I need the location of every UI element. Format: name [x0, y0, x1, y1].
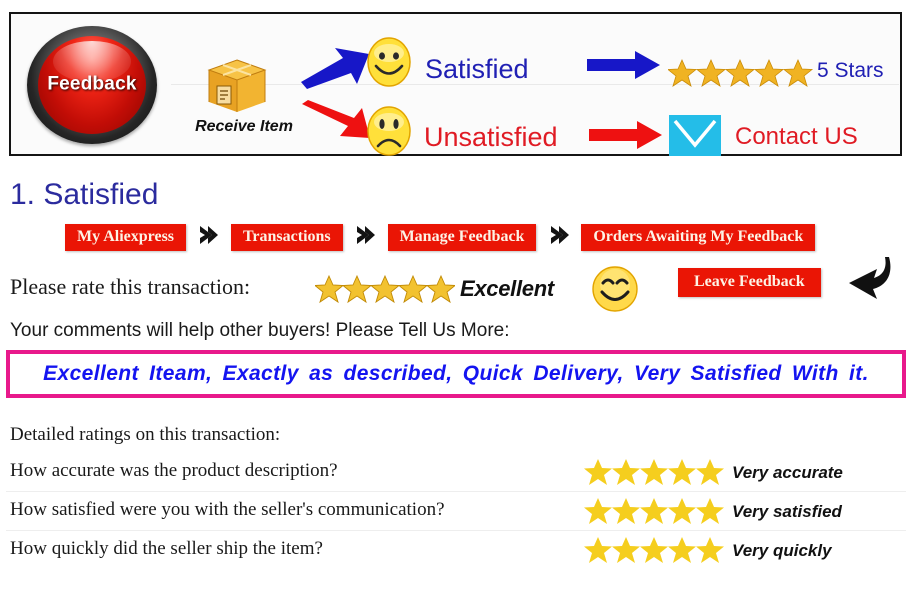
table-row: How accurate was the product description…: [6, 452, 906, 491]
blue-arrow-icon: [299, 44, 371, 95]
chevron-right-icon: [197, 224, 219, 251]
red-arrow-right-icon: [589, 120, 663, 155]
breadcrumb-item-orders-awaiting-my-feedback[interactable]: Orders Awaiting My Feedback: [581, 224, 815, 251]
leave-feedback-button[interactable]: Leave Feedback: [678, 268, 821, 297]
comments-prompt: Your comments will help other buyers! Pl…: [10, 320, 510, 342]
row-divider: [6, 491, 906, 492]
rating-question: How accurate was the product description…: [10, 460, 338, 482]
blue-arrow-right-icon: [587, 50, 661, 85]
feedback-banner: Feedback Receive Item: [9, 12, 902, 156]
rating-value-label: Excellent: [460, 276, 554, 302]
happy-face-icon: [366, 37, 412, 92]
rating-stars-shipping[interactable]: [584, 536, 724, 569]
section-title: 1. Satisfied: [10, 178, 158, 212]
satisfied-label: Satisfied: [425, 54, 529, 85]
feedback-button-label: Feedback: [27, 74, 157, 96]
chevron-right-icon-2: [354, 224, 376, 251]
big-smiley-icon: [592, 266, 638, 317]
red-arrow-icon: [300, 100, 372, 151]
unsatisfied-label: Unsatisfied: [424, 122, 558, 153]
comment-input[interactable]: Excellent Iteam, Exactly as described, Q…: [6, 350, 906, 398]
feedback-button[interactable]: Feedback: [27, 26, 157, 144]
rating-answer: Very satisfied: [732, 502, 842, 522]
breadcrumb-item-transactions[interactable]: Transactions: [231, 224, 343, 251]
contact-us-label[interactable]: Contact US: [735, 123, 858, 151]
rating-answer: Very accurate: [732, 463, 843, 483]
table-row: How quickly did the seller ship the item…: [6, 530, 906, 569]
table-row: How satisfied were you with the seller's…: [6, 491, 906, 530]
package-icon: [207, 58, 267, 116]
detailed-ratings-heading: Detailed ratings on this transaction:: [10, 424, 280, 446]
transaction-star-rating[interactable]: [315, 274, 455, 309]
package-label: Receive Item: [179, 118, 309, 136]
sad-face-icon: [366, 106, 412, 161]
comment-text: Excellent Iteam, Exactly as described, Q…: [10, 362, 902, 386]
banner-star-rating: [668, 58, 814, 93]
breadcrumb-item-manage-feedback[interactable]: Manage Feedback: [388, 224, 537, 251]
rating-stars-accuracy[interactable]: [584, 458, 724, 491]
breadcrumb: My Aliexpress Transactions Manage Feedba…: [65, 224, 815, 252]
rating-question: How satisfied were you with the seller's…: [10, 499, 445, 521]
rating-answer: Very quickly: [732, 541, 832, 561]
envelope-icon[interactable]: [669, 115, 721, 156]
chevron-right-icon-3: [548, 224, 570, 251]
row-divider: [6, 530, 906, 531]
rating-stars-communication[interactable]: [584, 497, 724, 530]
five-stars-label: 5 Stars: [817, 59, 884, 83]
rate-prompt: Please rate this transaction:: [10, 274, 250, 300]
curved-arrow-icon: [843, 255, 895, 308]
rating-question: How quickly did the seller ship the item…: [10, 538, 323, 560]
breadcrumb-item-my-aliexpress[interactable]: My Aliexpress: [65, 224, 186, 251]
